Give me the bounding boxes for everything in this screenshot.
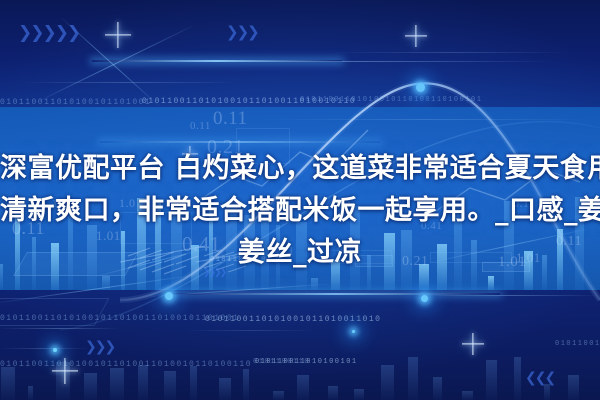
caption-line-3: 姜丝_过凉 bbox=[0, 232, 600, 274]
decor-chevron-arrows: ❯❯❯ bbox=[85, 339, 114, 355]
decor-number: 0.11 bbox=[213, 108, 248, 130]
sparkle-star-icon bbox=[52, 358, 78, 384]
decorative-banner: 0.110.210.110.411.011.011.010.110.410.11… bbox=[0, 0, 600, 400]
decor-chevron-arrows: ❯❯❯ bbox=[226, 23, 258, 41]
banner-caption: 深富优配平台 白灼菜心，这道菜非常适合夏天食用 清新爽口，非常适合搭配米饭一起享… bbox=[0, 148, 600, 274]
glow-dot bbox=[352, 330, 355, 333]
decor-chevron-arrows: ❮❮❮ bbox=[525, 370, 554, 386]
decor-number: 0.11 bbox=[190, 120, 211, 132]
decor-binary-row: 01011001 bbox=[555, 340, 600, 348]
glow-dot bbox=[421, 295, 428, 302]
decor-binary-row: 010110011010100101101001 bbox=[0, 98, 151, 107]
decor-binary-row: 01011001101010010110100110100101 bbox=[300, 96, 482, 104]
sparkle-star-icon bbox=[462, 333, 484, 355]
sparkle-star-icon bbox=[105, 22, 131, 48]
decor-binary-row: 0101100110 bbox=[253, 358, 310, 366]
caption-line-1: 深富优配平台 白灼菜心，这道菜非常适合夏天食用 bbox=[0, 148, 600, 190]
caption-line-2: 清新爽口，非常适合搭配米饭一起享用。_口感_姜丝_过凉 bbox=[0, 190, 600, 232]
decor-binary-row: 0101100110101001011010011010010110100110 bbox=[0, 360, 252, 369]
decor-chevron-arrows: ❯❯❯❯❯ bbox=[18, 23, 79, 43]
decor-binary-row: 01011001101010010110100110100101101001 bbox=[0, 314, 239, 323]
glow-dot bbox=[416, 83, 425, 92]
sparkle-star-icon bbox=[405, 25, 427, 47]
glow-dot bbox=[165, 292, 173, 300]
glow-dot bbox=[53, 348, 57, 352]
